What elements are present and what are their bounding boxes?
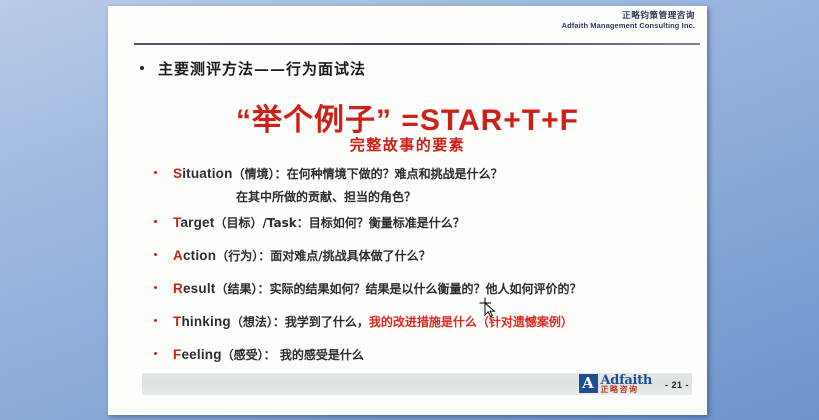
list-item-body: Thinking（想法）：我学到了什么，我的改进措施是什么（针对遗憾案例） xyxy=(173,312,573,333)
keyword-paren: （感受）： xyxy=(222,348,276,362)
spacer xyxy=(108,272,707,279)
slide-header: 正略钧策管理咨询 Adfaith Management Consulting I… xyxy=(562,11,695,30)
keyword-initial: S xyxy=(173,166,182,181)
bullet-dot-icon xyxy=(154,352,157,355)
headline: “举个例子” =STAR+T+F xyxy=(108,95,707,139)
list-item: Target（目标）/Task：目标如何？衡量标准是什么？ xyxy=(108,213,707,234)
item-text: 我的感受是什么 xyxy=(276,348,364,362)
header-company-cn: 正略钧策管理咨询 xyxy=(562,11,695,21)
list-item-secondline: 在其中所做的贡献、担当的角色？ xyxy=(108,188,707,205)
list-item-body: Result（结果）：实际的结果如何？结果是以什么衡量的？他人如何评价的？ xyxy=(173,279,582,300)
keyword-rest: hinking xyxy=(181,314,230,329)
item-text: 实际的结果如何？结果是以什么衡量的？他人如何评价的？ xyxy=(269,282,581,296)
list-item: Feeling（感受）： 我的感受是什么 xyxy=(108,345,707,366)
item-text: 面对难点/挑战具体做了什么？ xyxy=(270,249,430,263)
screen-capture: 正略钧策管理咨询 Adfaith Management Consulting I… xyxy=(0,0,819,420)
keyword: Thinking xyxy=(173,314,231,329)
list-item-body: Target（目标）/Task：目标如何？衡量标准是什么？ xyxy=(173,213,465,234)
keyword-rest: ituation xyxy=(182,166,232,181)
keyword-paren: （目标）/Task： xyxy=(214,216,308,230)
spacer xyxy=(108,305,707,312)
keyword-paren: （结果）： xyxy=(215,282,269,296)
header-company-en: Adfaith Management Consulting Inc. xyxy=(562,22,695,31)
keyword-initial: A xyxy=(173,248,183,263)
item-text: 目标如何？衡量标准是什么？ xyxy=(309,216,465,230)
keyword-paren: （情境）： xyxy=(233,167,287,181)
header-divider xyxy=(134,43,700,45)
keyword-rest: ction xyxy=(183,248,216,263)
page-number: - 21 - xyxy=(665,380,689,390)
title-bullet-icon xyxy=(140,66,144,70)
keyword-paren: （想法）： xyxy=(231,315,285,329)
bullet-dot-icon xyxy=(154,319,157,322)
keyword: Feeling xyxy=(173,347,222,362)
keyword-initial: R xyxy=(173,281,183,296)
bullet-dot-icon xyxy=(154,220,157,223)
keyword: Action xyxy=(173,248,216,263)
list-item: Result（结果）：实际的结果如何？结果是以什么衡量的？他人如何评价的？ xyxy=(108,279,707,300)
item-text-highlight: 我的改进措施是什么（针对遗憾案例） xyxy=(369,315,573,329)
logo-mark-icon: A xyxy=(579,374,598,393)
subheadline: 完整故事的要素 xyxy=(108,134,707,155)
item-text: 我学到了什么， xyxy=(285,315,369,329)
list-item-body: Situation（情境）：在何种情境下做的？难点和挑战是什么？ xyxy=(173,164,503,185)
bullet-dot-icon xyxy=(154,253,157,256)
presentation-slide[interactable]: 正略钧策管理咨询 Adfaith Management Consulting I… xyxy=(108,6,707,415)
spacer xyxy=(108,338,707,345)
list-item: Situation（情境）：在何种情境下做的？难点和挑战是什么？ xyxy=(108,164,707,185)
adfaith-logo: A Adfaith 正略咨询 xyxy=(579,374,653,394)
slide-title: 主要测评方法——行为面试法 xyxy=(140,58,680,79)
keyword-rest: eeling xyxy=(181,347,221,362)
slide-title-text: 主要测评方法——行为面试法 xyxy=(158,58,366,79)
bullet-dot-icon xyxy=(154,286,157,289)
keyword-rest: esult xyxy=(183,281,216,296)
star-list: Situation（情境）：在何种情境下做的？难点和挑战是什么？ 在其中所做的贡… xyxy=(108,164,707,371)
logo-text: Adfaith 正略咨询 xyxy=(601,374,653,394)
list-item: Action（行为）：面对难点/挑战具体做了什么？ xyxy=(108,246,707,267)
keyword: Result xyxy=(173,281,215,296)
item-text: 在何种情境下做的？难点和挑战是什么？ xyxy=(287,167,503,181)
keyword: Situation xyxy=(173,166,233,181)
bullet-dot-icon xyxy=(154,171,157,174)
list-item-body: Action（行为）：面对难点/挑战具体做了什么？ xyxy=(173,246,431,267)
list-item-body: Feeling（感受）： 我的感受是什么 xyxy=(173,345,364,366)
keyword-rest: arget xyxy=(180,215,214,230)
spacer xyxy=(108,239,707,246)
list-item: Thinking（想法）：我学到了什么，我的改进措施是什么（针对遗憾案例） xyxy=(108,312,707,333)
keyword: Target xyxy=(173,215,214,230)
keyword-paren: （行为）： xyxy=(216,249,270,263)
